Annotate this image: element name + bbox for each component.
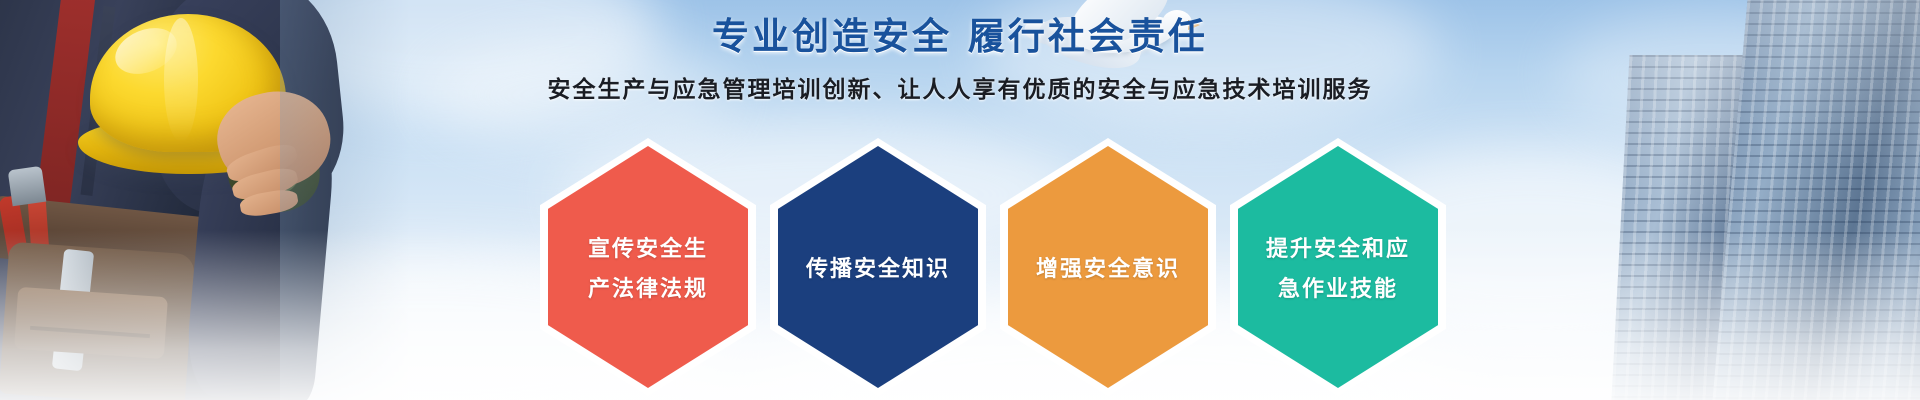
hexagon-label-line: 产法律法规: [588, 271, 708, 303]
safety-training-banner: 专业创造安全 履行社会责任 安全生产与应急管理培训创新、让人人享有优质的安全与应…: [0, 0, 1920, 400]
hexagon-enhance-safety-awareness[interactable]: 增强安全意识: [1000, 138, 1216, 396]
hexagon-improve-emergency-skills[interactable]: 提升安全和应 急作业技能: [1230, 138, 1446, 396]
hexagon-label-line: 提升安全和应: [1266, 231, 1410, 263]
hexagon-label-line: 急作业技能: [1278, 271, 1398, 303]
hexagon-promote-safety-laws[interactable]: 宣传安全生 产法律法规: [540, 138, 756, 396]
hexagon-spread-safety-knowledge[interactable]: 传播安全知识: [770, 138, 986, 396]
hexagon-label-line: 增强安全意识: [1036, 251, 1180, 283]
hexagon-label-line: 宣传安全生: [588, 231, 708, 263]
banner-headline: 专业创造安全 履行社会责任: [0, 6, 1920, 60]
hexagon-group: 宣传安全生 产法律法规 传播安全知识 增强安全意识 提升安全和应 急作业技能: [0, 138, 1920, 400]
hexagon-label-line: 传播安全知识: [806, 251, 950, 283]
banner-subheadline: 安全生产与应急管理培训创新、让人人享有优质的安全与应急技术培训服务: [0, 70, 1920, 104]
